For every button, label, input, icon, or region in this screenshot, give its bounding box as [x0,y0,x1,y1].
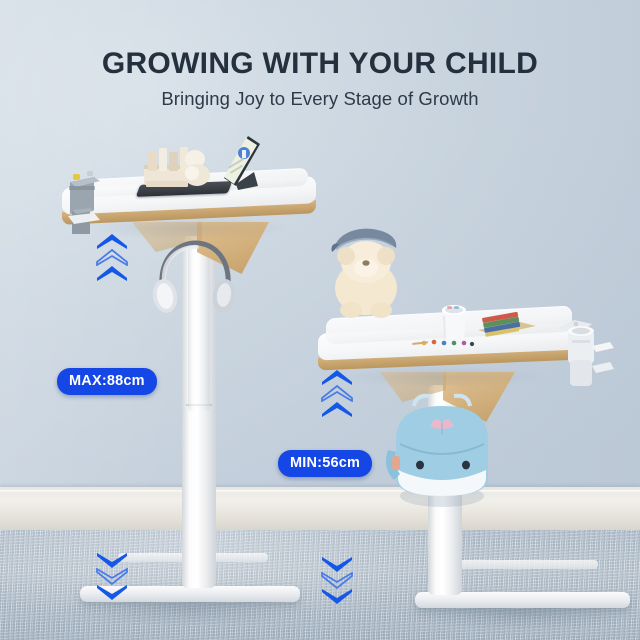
subheadline: Bringing Joy to Every Stage of Growth [0,88,640,110]
left-desk-up-chevrons [95,232,129,280]
cup-holder [552,312,620,396]
tablet-on-stand [206,134,270,198]
chevron-up-icon-solid [95,264,129,282]
product-scene: GROWING WITH YOUR CHILD Bringing Joy to … [0,0,640,640]
pen-cup-holder [60,162,106,240]
max-height-badge: MAX:88cm [57,368,157,395]
baseboard [0,487,640,533]
whale-backpack [386,392,498,510]
chevron-down-icon-solid [320,588,354,606]
chevron-up-icon-solid [320,400,354,418]
teddy-bear-figurine [316,226,416,318]
white-headphones [152,238,238,320]
right-desk-crossbar [448,560,598,569]
min-height-badge: MIN:56cm [278,450,372,477]
chevron-down-icon-solid [95,584,129,602]
paint-palette [398,330,488,356]
headline: GROWING WITH YOUR CHILD [0,47,640,81]
right-desk-top-shadow [340,366,550,388]
right-desk-up-chevrons [320,368,354,416]
left-base-down-chevrons [95,552,129,600]
right-base-down-chevrons [320,556,354,604]
